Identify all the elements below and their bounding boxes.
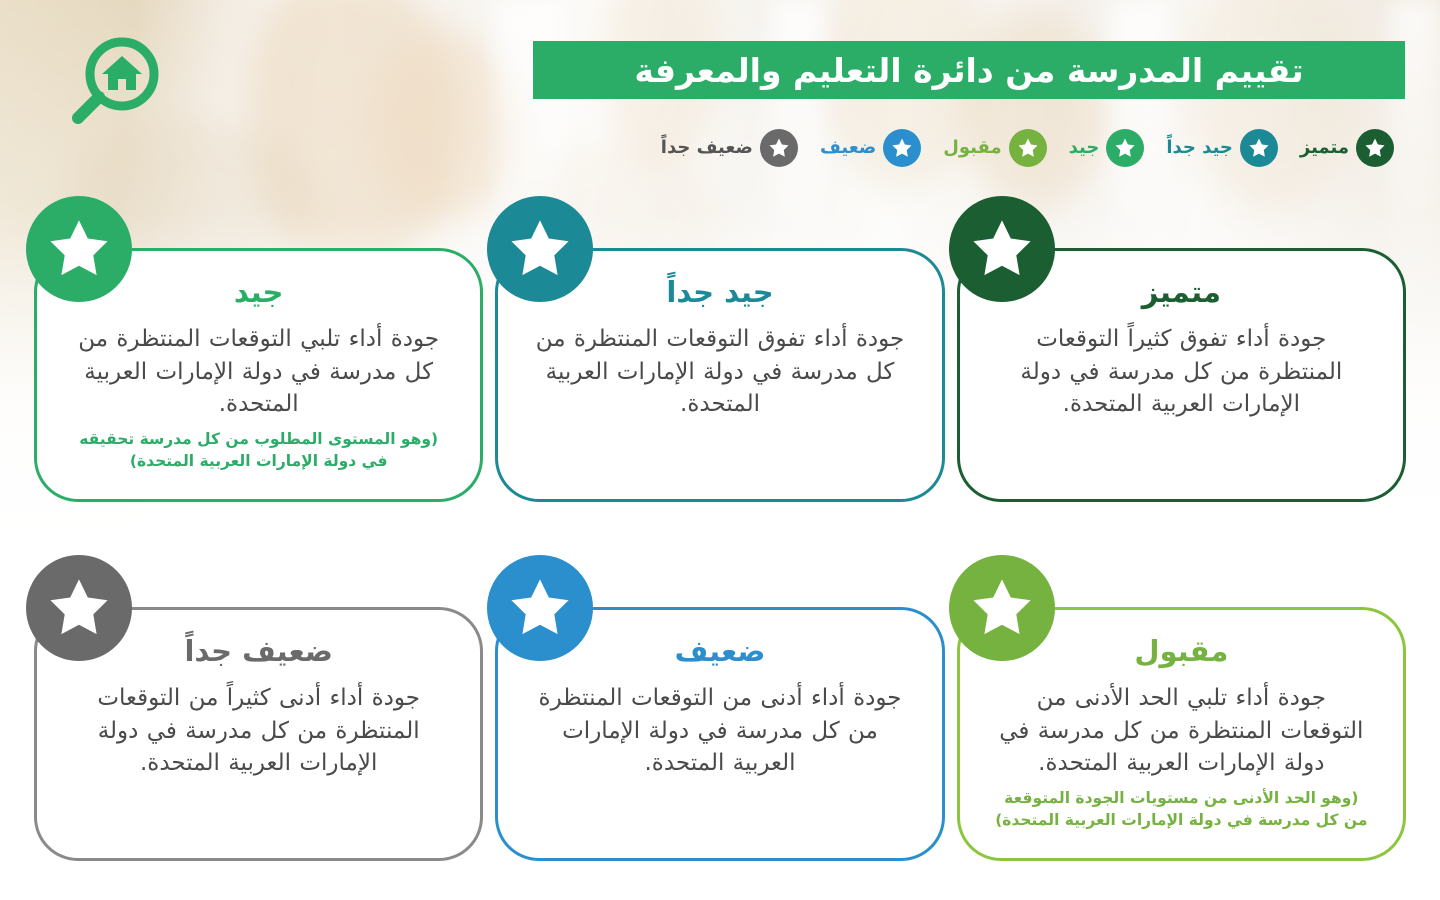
legend-label: مقبول [943,139,1001,157]
card-note: (وهو المستوى المطلوب من كل مدرسة تحقيقه … [71,429,446,472]
star-icon [949,555,1055,661]
star-icon [487,196,593,302]
card-description: جودة أداء تفوق التوقعات المنتظرة من كل م… [532,323,907,421]
house-magnifier-logo-icon [60,32,168,136]
card-note: (وهو الحد الأدنى من مستويات الجودة المتو… [994,788,1369,831]
card-title: متميز [1142,277,1221,309]
infographic-canvas: تقييم المدرسة من دائرة التعليم والمعرفة … [0,0,1440,900]
legend-item-motamayez[interactable]: متميز [1300,129,1394,167]
rating-card-daeef: ضعيف جودة أداء أدنى من التوقعات المنتظرة… [495,555,944,886]
star-icon [487,555,593,661]
legend-label: ضعيف [820,139,876,157]
star-icon [26,196,132,302]
rating-card-maqbool: مقبول جودة أداء تلبي الحد الأدنى من التو… [957,555,1406,886]
background-blob [960,10,1110,210]
card-title: مقبول [1134,636,1228,668]
card-description: جودة أداء تفوق كثيراً التوقعات المنتظرة … [994,323,1369,421]
rating-card-jayyed-jiddan: جيد جداً جودة أداء تفوق التوقعات المنتظر… [495,196,944,527]
legend-label: جيد جداً [1166,139,1233,157]
rating-cards-grid: متميز جودة أداء تفوق كثيراً التوقعات الم… [0,196,1440,886]
card-description: جودة أداء أدنى من التوقعات المنتظرة من ك… [532,682,907,780]
page-title-bar: تقييم المدرسة من دائرة التعليم والمعرفة [533,41,1405,99]
star-icon [883,129,921,167]
legend-item-maqbool[interactable]: مقبول [943,129,1046,167]
card-description: جودة أداء تلبي التوقعات المنتظرة من كل م… [71,323,446,421]
star-icon [26,555,132,661]
card-description: جودة أداء أدنى كثيراً من التوقعات المنتظ… [71,682,446,780]
rating-legend: متميز جيد جداً جيد مقبول ضعيف [0,125,1440,171]
legend-label: ضعيف جداً [661,139,753,157]
legend-label: متميز [1300,139,1349,157]
card-title: ضعيف جداً [184,636,332,668]
legend-label: جيد [1069,139,1100,157]
card-title: جيد جداً [666,277,773,309]
legend-item-daeef-jiddan[interactable]: ضعيف جداً [661,129,798,167]
rating-card-motamayez: متميز جودة أداء تفوق كثيراً التوقعات الم… [957,196,1406,527]
rating-card-daeef-jiddan: ضعيف جداً جودة أداء أدنى كثيراً من التوق… [34,555,483,886]
star-icon [1240,129,1278,167]
star-icon [1106,129,1144,167]
page-title: تقييم المدرسة من دائرة التعليم والمعرفة [634,54,1303,87]
card-description: جودة أداء تلبي الحد الأدنى من التوقعات ا… [994,682,1369,780]
star-icon [760,129,798,167]
legend-item-daeef[interactable]: ضعيف [820,129,921,167]
rating-card-jayyed: جيد جودة أداء تلبي التوقعات المنتظرة من … [34,196,483,527]
star-icon [1009,129,1047,167]
legend-item-jayyed-jiddan[interactable]: جيد جداً [1166,129,1278,167]
star-icon [949,196,1055,302]
legend-item-jayyed[interactable]: جيد [1069,129,1145,167]
card-title: جيد [234,277,284,309]
card-title: ضعيف [675,636,766,668]
star-icon [1356,129,1394,167]
